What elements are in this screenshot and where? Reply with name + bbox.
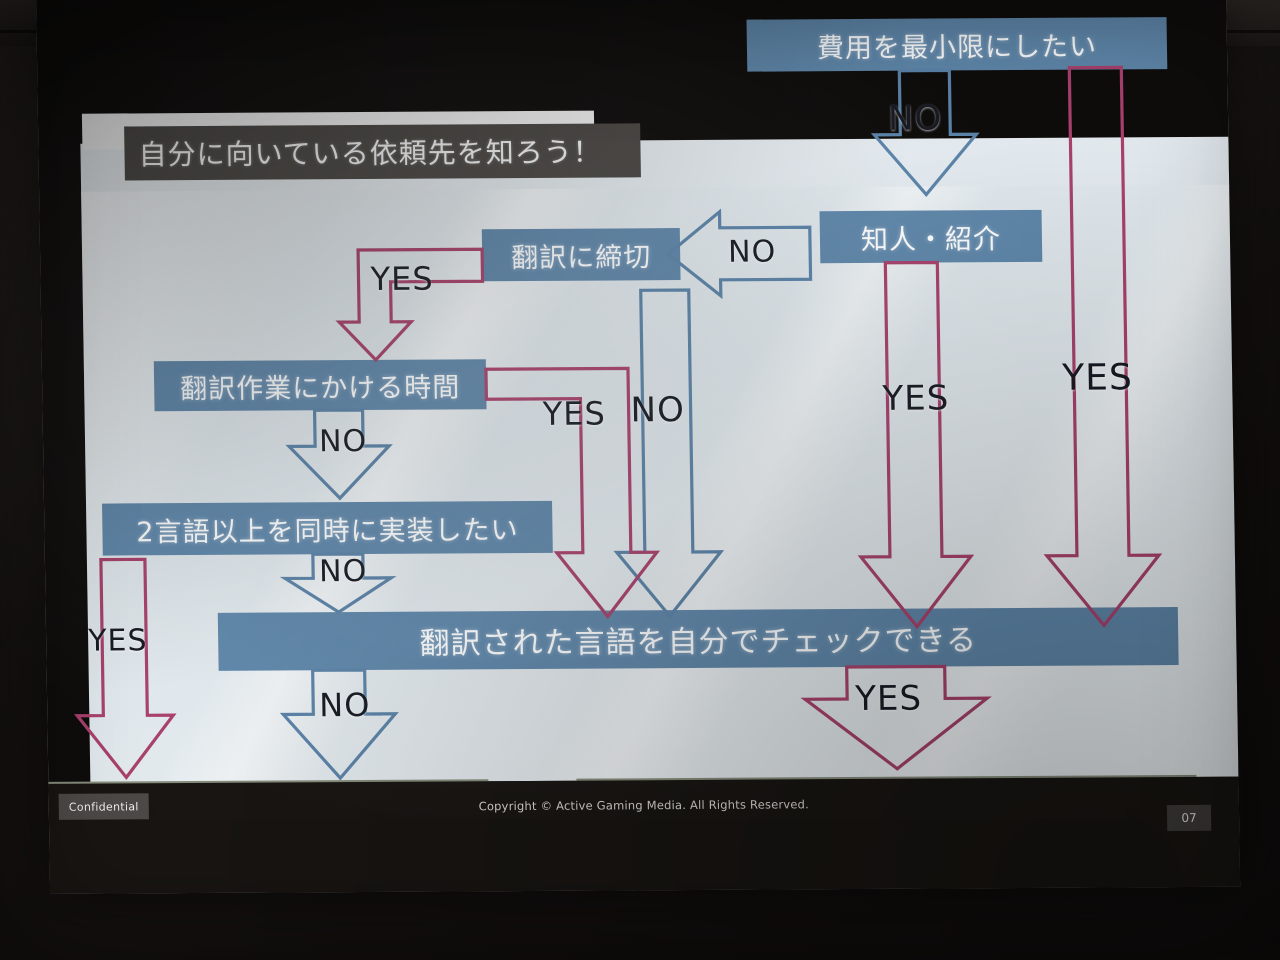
- node-multi-language[interactable]: 2言語以上を同時に実装したい: [102, 501, 553, 556]
- arrow-label-multi-yes: YES: [88, 623, 148, 658]
- node-self-check[interactable]: 翻訳された言語を自分でチェックできる: [218, 607, 1179, 671]
- page-title: 自分に向いている依頼先を知ろう！: [124, 123, 641, 180]
- slide: 自分に向いている依頼先を知ろう！ 費用を最小限にしたい 知人・紹介 翻訳に締切 …: [36, 0, 1240, 894]
- node-cost[interactable]: 費用を最小限にしたい: [746, 17, 1167, 72]
- node-multi-language-label: 2言語以上を同時に実装したい: [136, 508, 519, 549]
- node-cost-label: 費用を最小限にしたい: [817, 24, 1098, 65]
- arrow-label-cost-yes: YES: [1062, 357, 1133, 398]
- arrow-label-multi-no: NO: [319, 554, 368, 589]
- arrow-label-check-no: NO: [319, 686, 371, 724]
- slide-footer: [48, 777, 1240, 894]
- projected-slide-photo: 自分に向いている依頼先を知ろう！ 費用を最小限にしたい 知人・紹介 翻訳に締切 …: [0, 0, 1280, 960]
- arrow-label-check-yes: YES: [855, 679, 922, 719]
- arrow-label-time-no: NO: [319, 424, 368, 459]
- arrow-label-deadline-no: NO: [630, 390, 685, 430]
- arrow-label-deadline-yes: YES: [370, 260, 434, 298]
- arrow-label-referral-yes: YES: [882, 378, 949, 418]
- node-time-spent-label: 翻訳作業にかける時間: [180, 365, 461, 406]
- page-title-text: 自分に向いている依頼先を知ろう！: [124, 131, 602, 174]
- node-self-check-label: 翻訳された言語を自分でチェックできる: [419, 615, 977, 662]
- node-deadline-label: 翻訳に締切: [511, 235, 652, 275]
- projection-screen: 自分に向いている依頼先を知ろう！ 費用を最小限にしたい 知人・紹介 翻訳に締切 …: [36, 0, 1240, 894]
- page-number-badge: 07: [1167, 805, 1211, 831]
- arrow-label-time-yes: YES: [542, 395, 606, 433]
- node-time-spent[interactable]: 翻訳作業にかける時間: [154, 359, 487, 411]
- arrow-label-referral-no: NO: [728, 234, 777, 269]
- node-deadline[interactable]: 翻訳に締切: [482, 228, 681, 281]
- node-referral-label: 知人・紹介: [861, 217, 1002, 257]
- node-referral[interactable]: 知人・紹介: [820, 210, 1043, 263]
- arrow-label-cost-no: NO: [888, 98, 943, 138]
